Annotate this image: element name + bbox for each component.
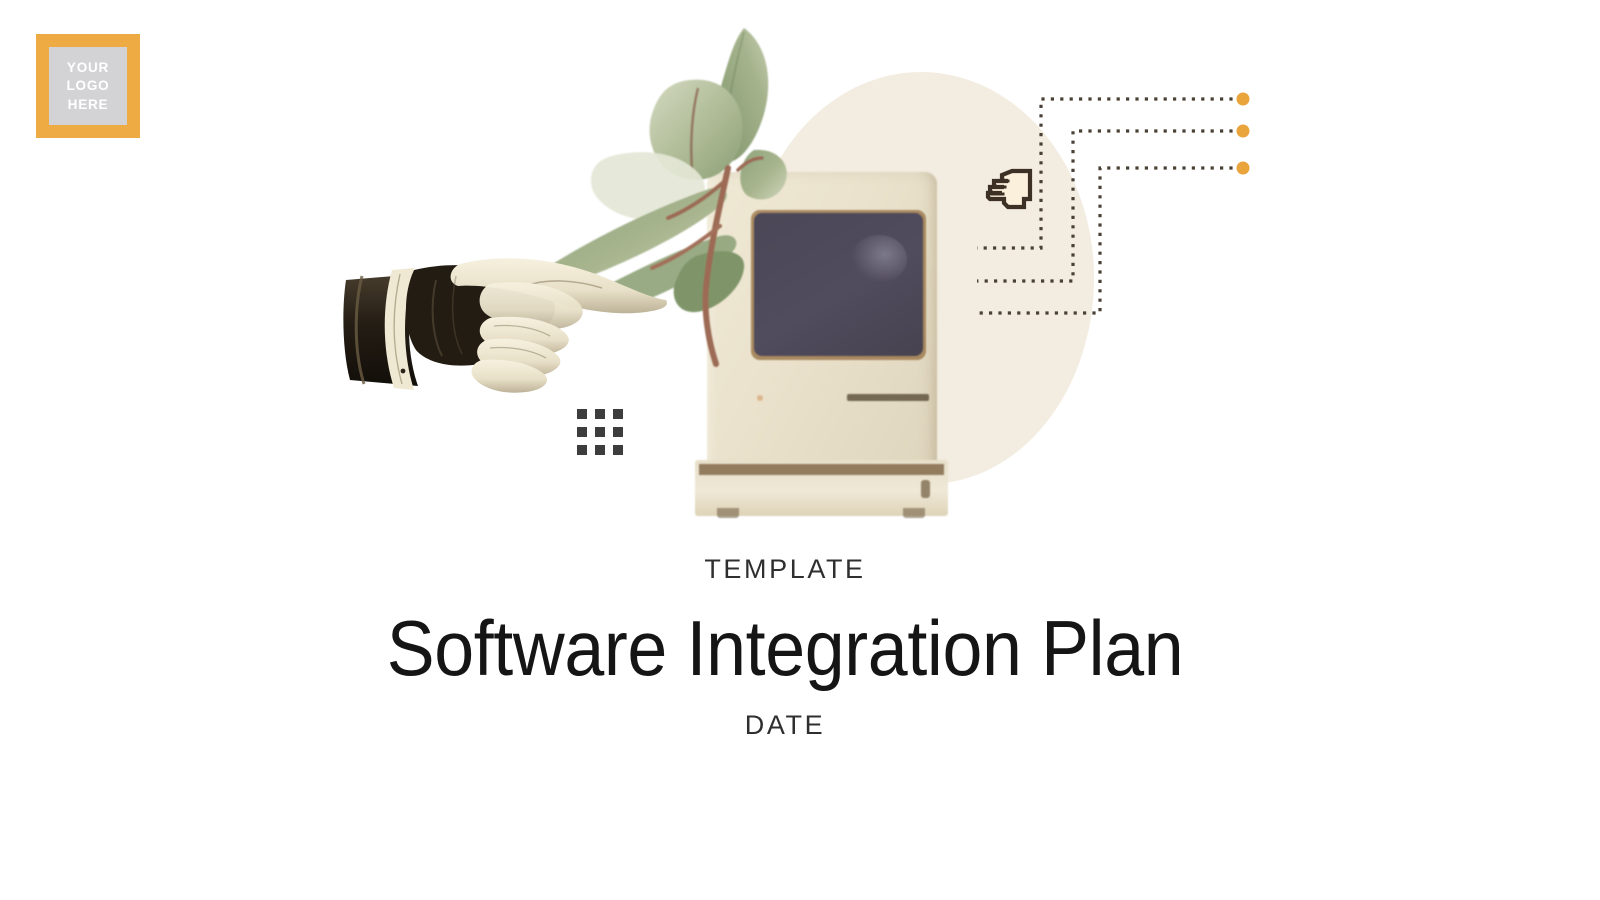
- dot-grid-3x3: [577, 409, 623, 455]
- macintosh-foot-right: [903, 508, 925, 518]
- page-title: Software Integration Plan: [63, 605, 1507, 692]
- macintosh-foot-left: [717, 508, 739, 518]
- grid-dot: [577, 427, 587, 437]
- eyebrow-label: TEMPLATE: [0, 556, 1570, 583]
- macintosh-floppy-slot: [847, 394, 929, 401]
- circuit-terminal-dot: [1237, 93, 1250, 106]
- grid-dot: [613, 409, 623, 419]
- grid-dot: [595, 427, 605, 437]
- hero-collage: [0, 0, 1600, 545]
- macintosh-screen-glare: [851, 235, 907, 283]
- grid-dot: [595, 445, 605, 455]
- grid-dot: [595, 409, 605, 419]
- grid-dot: [577, 409, 587, 419]
- macintosh-base-shadow: [699, 464, 944, 475]
- circuit-terminals: [1237, 93, 1250, 175]
- circuit-terminal-dot: [1237, 125, 1250, 138]
- title-block: TEMPLATE Software Integration Plan DATE: [0, 556, 1570, 739]
- cursor-hand-shape: [988, 171, 1030, 207]
- grid-dot: [613, 427, 623, 437]
- slide-canvas: YOUR LOGO HERE: [0, 0, 1600, 900]
- macintosh-brightness-knob: [921, 480, 930, 498]
- retro-pointer-cursor-icon: [978, 163, 1044, 215]
- date-label: DATE: [0, 712, 1570, 739]
- circuit-terminal-dot: [1237, 162, 1250, 175]
- grid-dot: [613, 445, 623, 455]
- grid-dot: [577, 445, 587, 455]
- vintage-pointing-hand-image: [340, 240, 670, 400]
